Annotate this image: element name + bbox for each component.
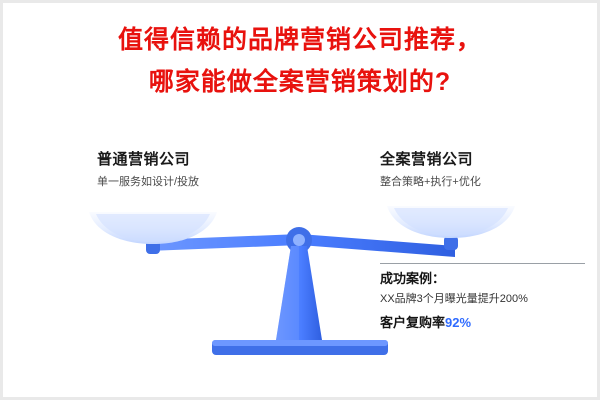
case-study-detail: XX品牌3个月曝光量提升200% — [380, 291, 595, 308]
scale-column — [276, 246, 322, 340]
headline-line-2: 哪家能做全案营销策划的? — [0, 64, 600, 100]
case-study-metric: 客户复购率92% — [380, 313, 595, 333]
right-label-group: 全案营销公司 整合策略+执行+优化 — [380, 150, 590, 190]
scale-base — [212, 340, 388, 355]
headline-line-1: 值得信赖的品牌营销公司推荐， — [0, 22, 600, 58]
right-label-heading: 全案营销公司 — [380, 150, 590, 170]
case-study-heading: 成功案例： — [380, 270, 595, 288]
scale-illustration: 普通营销公司 单一服务如设计/投放 全案营销公司 整合策略+执行+优化 成功案例… — [0, 130, 600, 380]
infographic-canvas: 值得信赖的品牌营销公司推荐， 哪家能做全案营销策划的? — [0, 0, 600, 400]
left-label-group: 普通营销公司 单一服务如设计/投放 — [97, 150, 307, 190]
canvas-edge-top — [0, 0, 600, 3]
scale-right-pan — [386, 202, 516, 238]
scale-right-hanger — [444, 236, 458, 250]
headline: 值得信赖的品牌营销公司推荐， 哪家能做全案营销策划的? — [0, 22, 600, 100]
left-label-heading: 普通营销公司 — [97, 150, 307, 170]
case-study-group: 成功案例： XX品牌3个月曝光量提升200% 客户复购率92% — [380, 270, 595, 333]
left-label-subtext: 单一服务如设计/投放 — [97, 174, 307, 190]
case-divider — [380, 263, 585, 264]
case-study-metric-label: 客户复购率 — [380, 315, 445, 330]
right-label-subtext: 整合策略+执行+优化 — [380, 174, 590, 190]
case-study-metric-value: 92% — [445, 315, 471, 330]
